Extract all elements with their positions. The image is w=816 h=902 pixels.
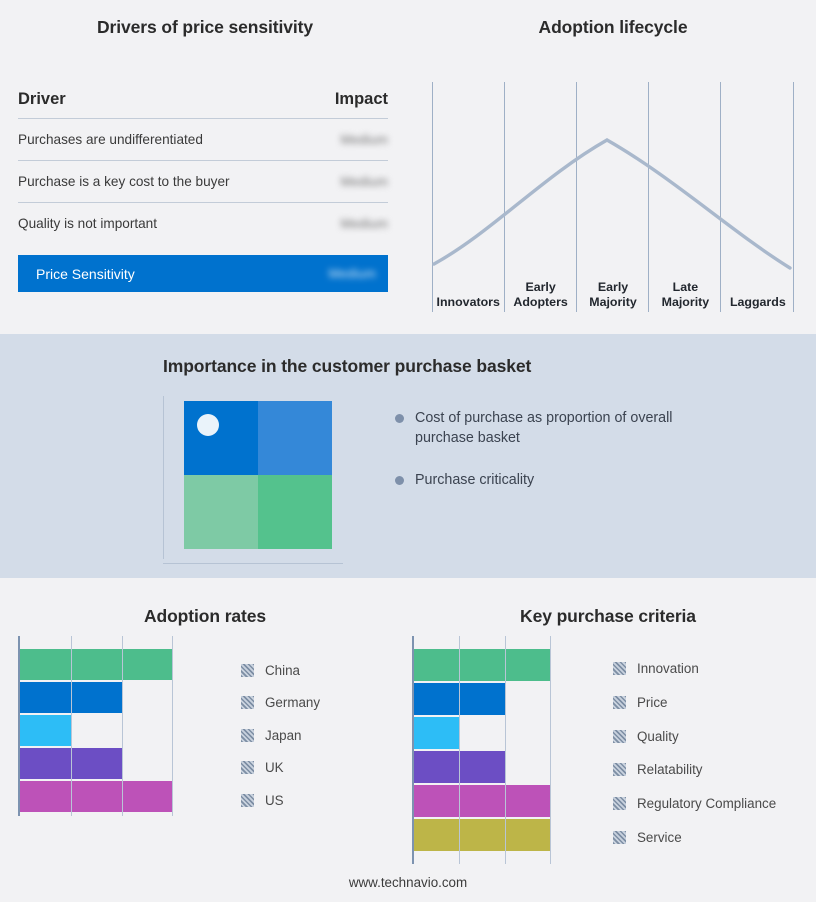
legend-label: Price <box>637 695 668 710</box>
gridline <box>550 636 551 864</box>
legend-label: US <box>265 793 284 808</box>
column-header-driver: Driver <box>18 90 296 109</box>
legend-item: UK <box>241 752 320 785</box>
matrix-position-marker <box>197 414 219 436</box>
lifecycle-segment-innovators: Innovators <box>432 268 504 312</box>
legend-label: Relatability <box>637 762 703 777</box>
legend-swatch-icon <box>241 761 254 774</box>
bar <box>414 819 550 851</box>
legend-label: Purchase criticality <box>415 470 534 490</box>
segment-line-2: Majority <box>662 295 710 310</box>
legend-label: Germany <box>265 695 320 710</box>
legend-swatch-icon <box>613 696 626 709</box>
gridline <box>505 636 506 864</box>
column-header-impact: Impact <box>296 90 388 109</box>
bar <box>20 715 71 746</box>
importance-panel-title: Importance in the customer purchase bask… <box>0 356 816 377</box>
legend-label: UK <box>265 760 284 775</box>
lifecycle-chart: Innovators Early Adopters Early Majority… <box>432 82 794 312</box>
purchase-criteria-title: Key purchase criteria <box>400 606 816 627</box>
legend-swatch-icon <box>241 664 254 677</box>
drivers-table-header: Driver Impact <box>18 90 388 118</box>
impact-value: Medium <box>341 132 388 147</box>
legend-swatch-icon <box>241 729 254 742</box>
segment-line-2: Adopters <box>513 295 567 310</box>
drivers-panel: Drivers of price sensitivity Driver Impa… <box>0 0 410 334</box>
importance-legend: Cost of purchase as proportion of overal… <box>395 396 677 564</box>
legend-swatch-icon <box>613 730 626 743</box>
impact-value: Medium <box>341 216 388 231</box>
quadrant-bottom-left <box>184 475 258 549</box>
driver-label: Purchases are undifferentiated <box>18 132 296 147</box>
bar <box>20 781 172 812</box>
legend-swatch-icon <box>241 696 254 709</box>
legend-item: Price <box>613 686 776 720</box>
legend-label: Cost of purchase as proportion of overal… <box>415 408 677 448</box>
drivers-table: Driver Impact Purchases are undifferenti… <box>18 90 388 292</box>
legend-item: Purchase criticality <box>395 470 677 490</box>
lifecycle-segment-late-majority: Late Majority <box>649 268 721 312</box>
criteria-plot-area <box>412 636 595 864</box>
legend-label: Regulatory Compliance <box>637 796 776 811</box>
bullet-icon <box>395 414 404 423</box>
legend-item: China <box>241 654 320 687</box>
importance-panel: Importance in the customer purchase bask… <box>0 334 816 578</box>
segment-line-1: Early <box>598 280 628 295</box>
bullet-icon <box>395 476 404 485</box>
quadrant-matrix <box>184 401 332 549</box>
legend-label: China <box>265 663 300 678</box>
table-row: Purchases are undifferentiated Medium <box>18 119 388 160</box>
legend-swatch-icon <box>613 831 626 844</box>
legend-item: Germany <box>241 687 320 720</box>
bar <box>414 717 459 749</box>
bar <box>414 649 550 681</box>
bell-curve-path <box>434 140 790 268</box>
matrix-axis-vertical <box>163 396 164 559</box>
legend-swatch-icon <box>241 794 254 807</box>
impact-value-cell: Medium <box>296 131 388 149</box>
legend-item: Relatability <box>613 753 776 787</box>
legend-label: Japan <box>265 728 301 743</box>
legend-item: Innovation <box>613 652 776 686</box>
matrix-axis-horizontal <box>163 563 343 564</box>
legend-swatch-icon <box>613 797 626 810</box>
segment-line-1: Laggards <box>730 295 786 310</box>
bar <box>414 785 550 817</box>
lifecycle-segment-laggards: Laggards <box>722 268 794 312</box>
quadrant-bottom-right <box>258 475 332 549</box>
highlight-row-label: Price Sensitivity <box>36 266 284 282</box>
importance-content: Cost of purchase as proportion of overal… <box>163 396 783 564</box>
bar <box>20 649 172 680</box>
impact-value-cell: Medium <box>296 173 388 191</box>
adoption-plot-area <box>18 636 223 816</box>
legend-item: Cost of purchase as proportion of overal… <box>395 408 677 448</box>
gridline <box>122 636 123 816</box>
legend-label: Service <box>637 830 682 845</box>
legend-item: Regulatory Compliance <box>613 787 776 821</box>
legend-item: Japan <box>241 719 320 752</box>
legend-swatch-icon <box>613 763 626 776</box>
quadrant-top-left <box>184 401 258 475</box>
highlight-impact-cell: Medium <box>284 265 376 283</box>
price-sensitivity-highlight-row: Price Sensitivity Medium <box>18 255 388 292</box>
driver-label: Quality is not important <box>18 216 296 231</box>
table-row: Quality is not important Medium <box>18 203 388 244</box>
legend-label: Innovation <box>637 661 699 676</box>
legend-swatch-icon <box>613 662 626 675</box>
highlight-impact-value: Medium <box>329 266 376 281</box>
legend-label: Quality <box>637 729 679 744</box>
gridline <box>71 636 72 816</box>
infographic-page: Drivers of price sensitivity Driver Impa… <box>0 0 816 902</box>
lifecycle-segment-labels: Innovators Early Adopters Early Majority… <box>432 268 794 312</box>
criteria-legend: InnovationPriceQualityRelatabilityRegula… <box>613 636 776 864</box>
legend-item: Quality <box>613 719 776 753</box>
impact-value-cell: Medium <box>296 215 388 233</box>
lifecycle-panel-title: Adoption lifecycle <box>410 17 816 38</box>
segment-line-1: Late <box>673 280 698 295</box>
driver-label: Purchase is a key cost to the buyer <box>18 174 296 189</box>
purchase-criteria-panel: Key purchase criteria InnovationPriceQua… <box>400 578 816 878</box>
legend-item: US <box>241 784 320 817</box>
adoption-rates-chart: ChinaGermanyJapanUKUS <box>18 636 320 817</box>
adoption-rates-title: Adoption rates <box>0 606 410 627</box>
segment-line-1: Innovators <box>437 295 500 310</box>
lifecycle-segment-early-majority: Early Majority <box>577 268 649 312</box>
segment-line-2: Majority <box>589 295 637 310</box>
quadrant-top-right <box>258 401 332 475</box>
purchase-criteria-chart: InnovationPriceQualityRelatabilityRegula… <box>412 636 776 864</box>
table-row: Purchase is a key cost to the buyer Medi… <box>18 161 388 202</box>
legend-item: Service <box>613 820 776 854</box>
footer-url: www.technavio.com <box>0 875 816 890</box>
lifecycle-segment-early-adopters: Early Adopters <box>504 268 576 312</box>
drivers-panel-title: Drivers of price sensitivity <box>0 17 410 38</box>
gridline <box>459 636 460 864</box>
adoption-legend: ChinaGermanyJapanUKUS <box>241 636 320 817</box>
quadrant-matrix-area <box>163 396 348 564</box>
gridline <box>172 636 173 816</box>
impact-value: Medium <box>341 174 388 189</box>
segment-line-1: Early <box>525 280 555 295</box>
adoption-rates-panel: Adoption rates ChinaGermanyJapanUKUS <box>0 578 410 878</box>
lifecycle-panel: Adoption lifecycle Innovators Ea <box>410 0 816 334</box>
